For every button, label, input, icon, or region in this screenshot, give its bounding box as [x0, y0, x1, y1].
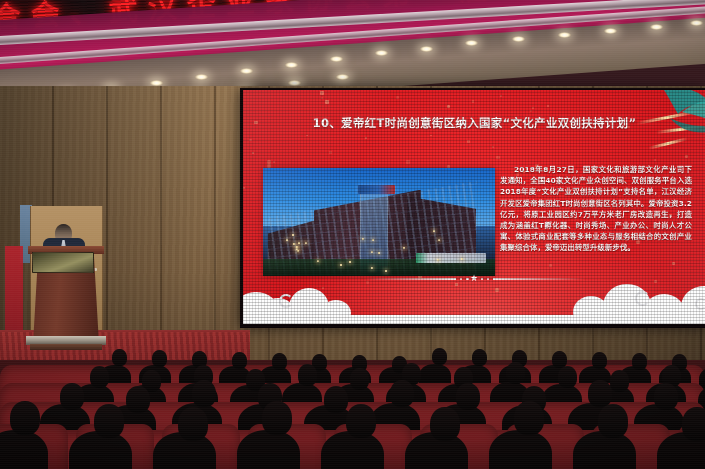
confetti-dot [467, 140, 470, 143]
confetti-dot [329, 151, 332, 154]
downlight [604, 28, 617, 34]
downlight [330, 56, 343, 62]
audience-head [272, 353, 287, 370]
downlight [375, 50, 388, 56]
audience-head [390, 380, 414, 407]
downlight [240, 68, 253, 74]
podium-base [30, 344, 102, 350]
slide-body-text: 2018年8月27日，国家文化和旅游部文化产业司下发通知，全国40家文化产业众创… [500, 164, 692, 254]
divider-dot [466, 278, 469, 281]
audience-head [558, 366, 577, 388]
audience-head [10, 401, 40, 435]
confetti-dot [654, 159, 656, 161]
photo-light [362, 238, 364, 240]
cloud-swirl [279, 294, 293, 308]
confetti-dot [325, 100, 329, 104]
photo-light [438, 239, 440, 241]
downlight [465, 40, 478, 46]
audience-shoulders [321, 431, 384, 469]
downlight [690, 20, 703, 26]
confetti-dot [321, 97, 323, 99]
audience-head [152, 350, 167, 367]
divider-line-right [493, 278, 585, 280]
confetti-dot [496, 156, 499, 159]
cloud-shape [321, 300, 351, 324]
star-divider [243, 278, 705, 281]
confetti-dot [365, 137, 367, 139]
audience-shoulders [237, 430, 300, 469]
photo-street-lights [263, 168, 495, 276]
downlight [336, 74, 349, 80]
audience-head [472, 349, 487, 366]
divider-dot [481, 278, 484, 281]
confetti-dot [547, 105, 549, 107]
divider-dot [460, 278, 462, 280]
audience-head [126, 386, 150, 413]
photo-light [305, 242, 307, 244]
audience-head [592, 352, 607, 369]
confetti-dot [430, 135, 432, 137]
audience-head [432, 348, 447, 365]
confetti-dot [532, 107, 534, 109]
confetti-dot [243, 187, 245, 189]
photo-light [293, 243, 295, 245]
photo-light [403, 247, 405, 249]
photo-light [461, 258, 463, 260]
audience-shoulders [69, 431, 132, 469]
confetti-dot [530, 110, 532, 112]
cloud-decor-band [243, 278, 705, 324]
audience-head [350, 368, 369, 390]
photo-light [340, 264, 342, 266]
photo-light [292, 234, 294, 236]
confetti-dot [249, 139, 251, 141]
downlight [512, 36, 525, 42]
audience-head [588, 380, 612, 407]
audience-head [598, 404, 628, 438]
audience-shoulders [489, 430, 552, 469]
audience-head [112, 349, 127, 366]
audience-head [610, 370, 629, 392]
photo-light [371, 267, 373, 269]
downlight [285, 62, 298, 68]
audience-head [178, 407, 208, 441]
photo-light [297, 250, 299, 252]
photo-light [286, 239, 288, 241]
photo-light [437, 259, 439, 261]
stage-curtain-edge [5, 246, 23, 342]
audience-head [654, 383, 678, 410]
confetti-dot [273, 161, 275, 163]
audience-head [262, 401, 292, 435]
photo-light [433, 230, 435, 232]
confetti-dot [406, 160, 410, 164]
audience-head [514, 401, 544, 435]
presentation-screen: 10、爱帝红T时尚创意街区纳入国家“文化产业双创扶持计划” 2018年8月27日… [243, 90, 705, 324]
audience-head [90, 366, 109, 388]
photo-light [372, 239, 374, 241]
audience-head [298, 364, 317, 386]
confetti-dot [685, 155, 688, 158]
downlight [558, 32, 571, 38]
confetti-dot [371, 161, 373, 163]
photo-light [371, 251, 373, 253]
confetti-dot [672, 262, 675, 265]
confetti-dot [447, 105, 450, 108]
audience-head [632, 353, 647, 370]
photo-light [385, 270, 387, 272]
audience-head [346, 404, 376, 438]
confetti-dot [472, 100, 475, 103]
photo-light [378, 252, 380, 254]
photo-light [298, 242, 300, 244]
slide-title: 10、爱帝红T时尚创意街区纳入国家“文化产业双创扶持计划” [243, 115, 705, 131]
confetti-dot [306, 135, 308, 137]
audience-head [682, 407, 705, 441]
audience-head [456, 383, 480, 410]
audience-head [60, 383, 84, 410]
downlight [420, 46, 433, 52]
confetti-dot [492, 146, 494, 148]
podium-monitor [32, 252, 94, 273]
audience-head [192, 380, 216, 407]
audience-head [94, 404, 124, 438]
audience-head [430, 407, 460, 441]
downlight [195, 74, 208, 80]
divider-line-left [364, 278, 456, 280]
audience-head [232, 352, 247, 369]
confetti-dot [252, 152, 254, 154]
audience-head [506, 362, 525, 384]
confetti-dot [320, 91, 324, 95]
divider-dot [487, 278, 489, 280]
cloud-swirl [695, 298, 705, 310]
confetti-dot [267, 160, 271, 164]
auditorium-photo: 合会、武汉企业家协会第一届理事 10、爱帝红T时尚创意街区纳入国家“文化产业双创… [0, 0, 705, 469]
downlight [650, 24, 663, 30]
confetti-dot [500, 95, 502, 97]
cloud-swirl [635, 291, 650, 306]
photo-light [317, 260, 319, 262]
photo-light [349, 261, 351, 263]
audience-head [324, 386, 348, 413]
audience-shoulders [573, 431, 636, 469]
confetti-dot [396, 96, 399, 99]
building-photo [263, 168, 495, 276]
